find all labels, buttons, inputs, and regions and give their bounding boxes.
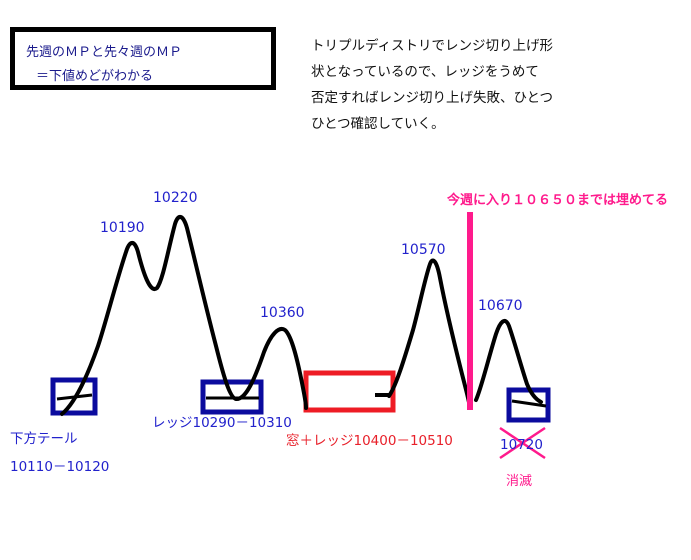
price-label-10670: 10670 [478,298,523,314]
analysis-paragraph: トリプルディストリでレンジ切り上げ形 状となっているので、レッジをうめて 否定す… [311,33,671,137]
top-ledge-box-midline [512,401,546,406]
current-week-note: 今週に入り１０６５０までは埋めてる [447,189,668,208]
price-path-middle [389,260,470,408]
lower-tail-title: 下方テール [10,427,78,447]
price-label-10190: 10190 [100,220,145,236]
paragraph-line-3: 否定すればレンジ切り上げ失敗、ひとつ [311,85,671,111]
ledge-range-label: レッジ10290－10310 [152,411,292,431]
ledge-box [203,382,261,412]
window-ledge-range-label: 窓＋レッジ10400－10510 [286,429,453,449]
price-label-10360: 10360 [260,305,305,321]
price-label-10220: 10220 [153,190,198,206]
price-path-right [476,321,541,402]
note-line-2: ＝下値めどがわかる [36,65,153,84]
summary-note-box: 先週のＭＰと先々週のＭＰ ＝下値めどがわかる [10,27,276,90]
lower-tail-box [53,380,95,413]
paragraph-line-2: 状となっているので、レッジをうめて [311,59,671,85]
extinguished-label: 消滅 [506,470,532,489]
price-label-10570: 10570 [401,242,446,258]
drawing-canvas: 先週のＭＰと先々週のＭＰ ＝下値めどがわかる トリプルディストリでレンジ切り上げ… [0,0,691,560]
window-ledge-box [306,373,393,410]
note-line-1: 先週のＭＰと先々週のＭＰ [26,41,182,60]
struck-price-label: 10720 [500,437,543,453]
lower-tail-range: 10110－10120 [10,455,109,475]
paragraph-line-1: トリプルディストリでレンジ切り上げ形 [311,33,671,59]
top-ledge-box [509,390,548,420]
paragraph-line-4: ひとつ確認していく。 [311,111,671,137]
lower-tail-box-midline [57,395,92,399]
